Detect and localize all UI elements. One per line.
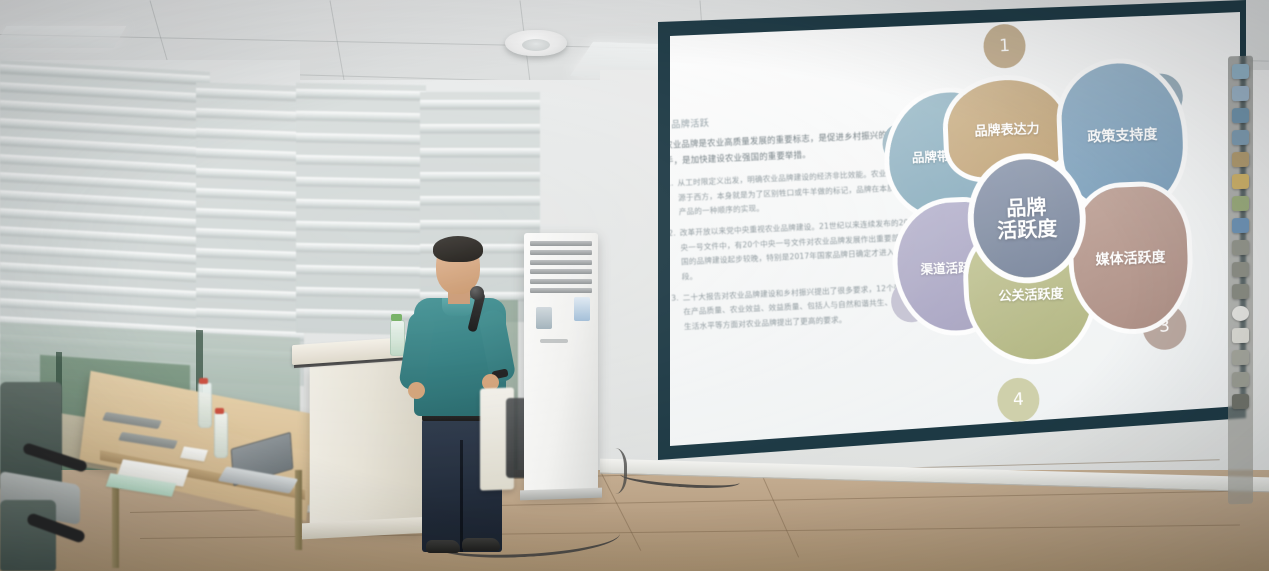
desk-leg-left (112, 478, 119, 568)
bottle-cap-1 (199, 378, 208, 384)
ac-control-panel[interactable] (536, 307, 552, 329)
ac-energy-label (574, 297, 590, 321)
air-conditioner (524, 233, 598, 495)
presenter-hair (433, 236, 483, 262)
microphone-head-icon (470, 286, 484, 300)
shoe-left (426, 540, 460, 553)
music-icon[interactable] (1232, 328, 1249, 343)
display-app-toolbar[interactable] (1228, 56, 1253, 505)
slide: 品牌活跃 农业品牌是农业高质量发展的重要标志，是促进乡村振兴的重要抓手，是加快建… (650, 0, 1246, 460)
shoe-right (462, 538, 500, 551)
browser-icon[interactable] (1232, 240, 1249, 255)
record-icon[interactable] (1232, 306, 1249, 321)
center-line-1: 品牌 (1006, 195, 1047, 219)
laptop (222, 440, 292, 484)
ceiling-light-panel-2 (0, 26, 126, 48)
folder-icon[interactable] (1232, 174, 1249, 189)
share-icon[interactable] (1232, 108, 1249, 123)
diagram-number-1: 1 (983, 23, 1027, 69)
bottle-cap-2 (215, 408, 224, 414)
contacts-icon[interactable] (1232, 86, 1249, 101)
bullet-number-3: 3. (671, 291, 681, 335)
whiteboard-icon[interactable] (1232, 284, 1249, 299)
notes-icon[interactable] (1232, 262, 1249, 277)
video-icon[interactable] (1232, 218, 1249, 233)
display-icon[interactable] (1232, 64, 1249, 79)
brand-activity-flower-diagram: 1 2 3 4 5 6 品牌带动力 渠道活跃度 公关活跃度 品牌表达力 政策支持… (877, 1, 1243, 445)
hand-left (408, 382, 425, 399)
clock-icon[interactable] (1232, 350, 1249, 365)
air-conditioner-cable (598, 448, 627, 494)
presentation-room-photo: 品牌活跃 农业品牌是农业高质量发展的重要标志，是促进乡村振兴的重要抓手，是加快建… (0, 0, 1269, 571)
diagram-number-4: 4 (996, 377, 1040, 423)
gallery-icon[interactable] (1232, 196, 1249, 211)
camera-icon[interactable] (1232, 394, 1249, 409)
office-chair-front (0, 500, 56, 571)
presentation-screen[interactable]: 品牌活跃 农业品牌是农业高质量发展的重要标志，是促进乡村振兴的重要抓手，是加快建… (650, 0, 1246, 460)
center-line-2: 活跃度 (997, 217, 1058, 242)
slide-title: 品牌活跃 (671, 116, 710, 131)
ac-brand-mark (540, 339, 568, 343)
ac-vent-grille (530, 241, 592, 293)
document-icon[interactable] (1232, 130, 1249, 145)
water-bottle-1 (198, 382, 212, 428)
settings-icon[interactable] (1232, 372, 1249, 387)
trouser-seam (460, 440, 463, 552)
smoke-detector-icon (505, 30, 567, 56)
calculator-icon[interactable] (1232, 152, 1249, 167)
